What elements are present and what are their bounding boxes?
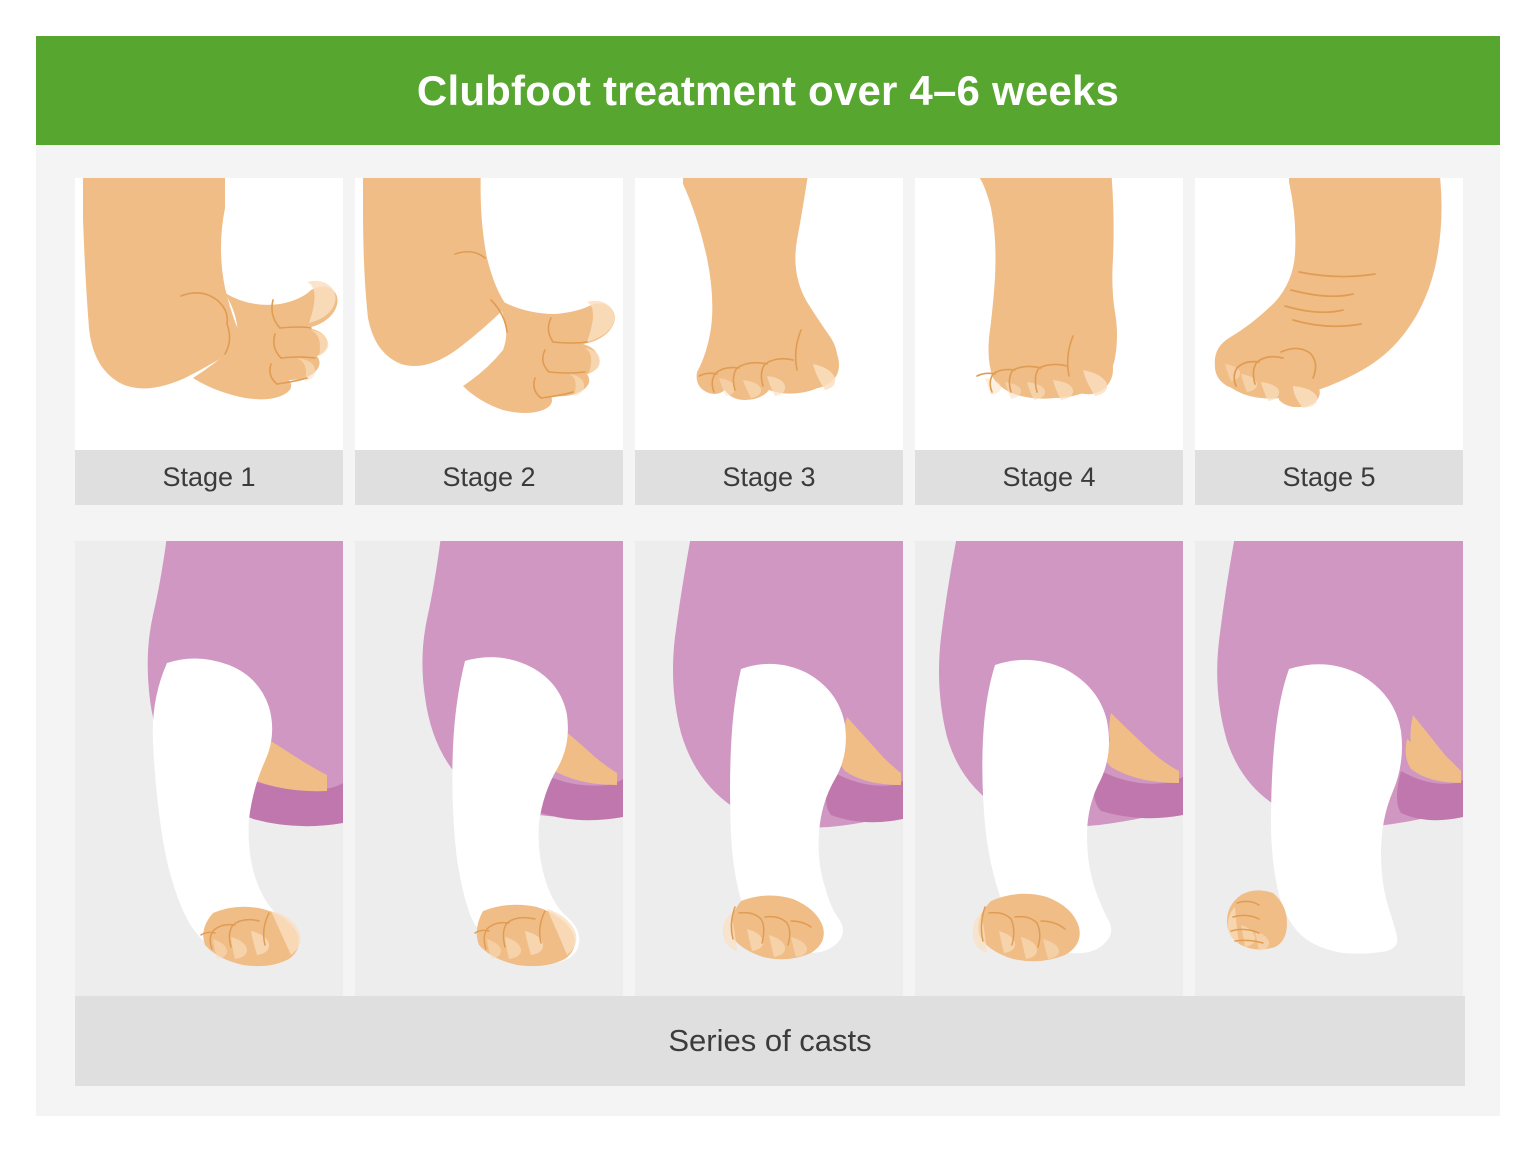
stage-panel-5: Stage 5	[1195, 178, 1463, 505]
cast-panel-1	[75, 541, 343, 996]
clubfoot-near-corrected-frontal-figure	[915, 178, 1183, 450]
cast-row	[75, 541, 1465, 996]
stage-panel-3: Stage 3	[635, 178, 903, 505]
stage-label-3: Stage 3	[635, 450, 903, 505]
stage-row: Stage 1	[75, 178, 1465, 505]
foot-corrected-with-ankle-creases-figure	[1195, 178, 1463, 450]
page-title: Clubfoot treatment over 4–6 weeks	[417, 70, 1119, 112]
leg-cast-stage-5-icon	[1195, 541, 1463, 996]
leg-cast-stage-1-icon	[75, 541, 343, 996]
clubfoot-severe-inversion-profile-figure	[75, 178, 343, 450]
cast-row-caption: Series of casts	[75, 996, 1465, 1086]
stage-label-2: Stage 2	[355, 450, 623, 505]
stage-panel-4: Stage 4	[915, 178, 1183, 505]
header-bar: Clubfoot treatment over 4–6 weeks	[36, 36, 1500, 145]
leg-cast-stage-4-icon	[915, 541, 1183, 996]
leg-cast-stage-2-icon	[355, 541, 623, 996]
clubfoot-more-corrected-oblique-icon	[635, 178, 903, 450]
cast-panel-5	[1195, 541, 1463, 996]
cast-panel-2	[355, 541, 623, 996]
clubfoot-near-corrected-frontal-icon	[915, 178, 1183, 450]
clubfoot-partially-corrected-profile-icon	[355, 178, 623, 450]
stage-label-4: Stage 4	[915, 450, 1183, 505]
clubfoot-severe-inversion-profile-icon	[75, 178, 343, 450]
stage-label-5: Stage 5	[1195, 450, 1463, 505]
clubfoot-more-corrected-oblique-figure	[635, 178, 903, 450]
stage-label-1: Stage 1	[75, 450, 343, 505]
stage-panel-2: Stage 2	[355, 178, 623, 505]
clubfoot-partially-corrected-profile-figure	[355, 178, 623, 450]
infographic-root: Clubfoot treatment over 4–6 weeks	[36, 36, 1500, 1116]
cast-panel-3	[635, 541, 903, 996]
cast-panel-4	[915, 541, 1183, 996]
foot-corrected-with-ankle-creases-icon	[1195, 178, 1463, 450]
stage-panel-1: Stage 1	[75, 178, 343, 505]
leg-cast-stage-3-icon	[635, 541, 903, 996]
